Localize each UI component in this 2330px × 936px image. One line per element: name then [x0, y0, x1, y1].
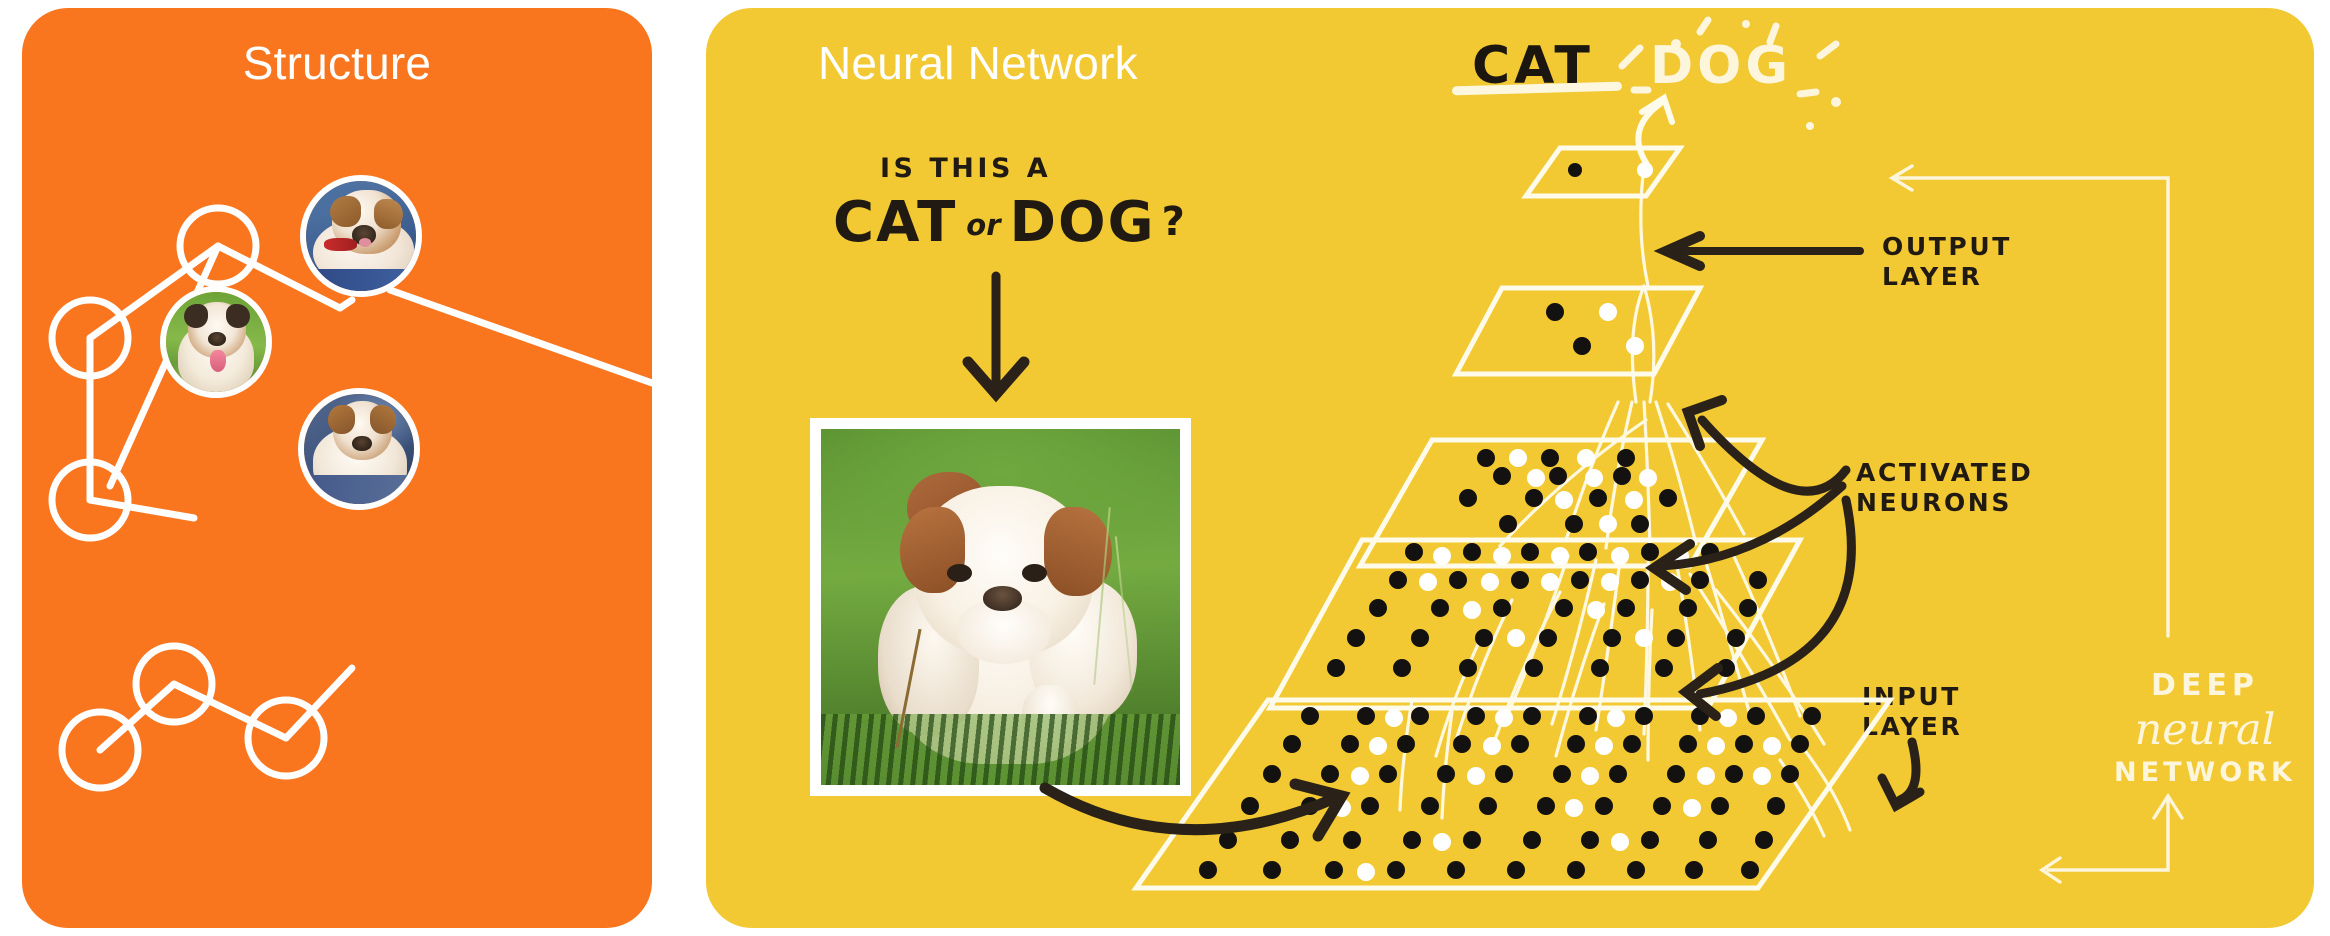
arrow-to-activated-mid: [1662, 486, 1842, 566]
arrow-to-activated-upper: [1702, 420, 1846, 491]
sketch-arrows: [0, 0, 2330, 936]
infographic-canvas: Structure: [0, 0, 2330, 936]
arrow-photo-to-input: [1045, 788, 1335, 830]
